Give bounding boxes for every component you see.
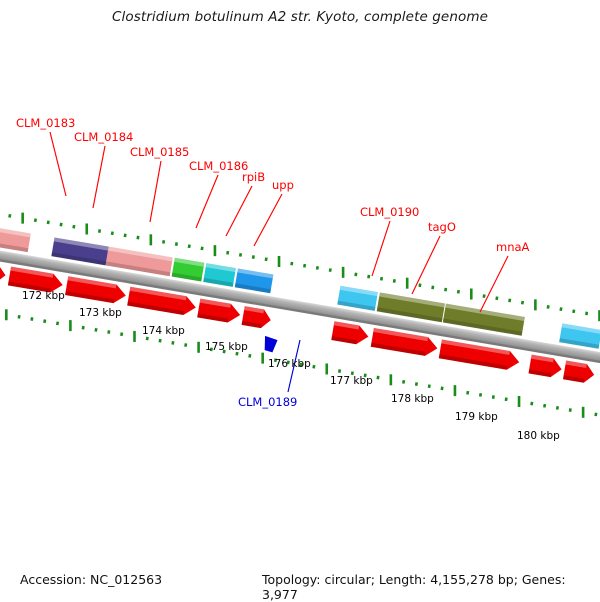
leader-line-CLM_0190	[372, 221, 390, 276]
ruler-major-tick	[342, 267, 345, 278]
ruler-major-tick	[278, 256, 281, 267]
ruler-minor-tick	[559, 307, 562, 311]
ruler-minor-tick	[188, 244, 191, 248]
ruler-minor-tick	[107, 330, 110, 334]
gene-label-CLM_0186[interactable]: CLM_0186	[189, 159, 248, 173]
gene-CLM_0186[interactable]	[172, 258, 205, 282]
ruler-minor-tick	[124, 234, 127, 238]
ruler-major-tick	[214, 245, 217, 256]
genome-map-canvas	[0, 0, 600, 600]
ruler-minor-tick	[175, 242, 178, 246]
ruler-minor-tick	[329, 268, 332, 272]
ruler-minor-tick	[415, 382, 418, 386]
gene-arrow-6[interactable]	[242, 306, 273, 329]
ruler-minor-tick	[56, 321, 59, 325]
ruler-minor-tick	[338, 369, 341, 373]
ruler-minor-tick	[34, 218, 37, 222]
leader-line-tagO	[412, 236, 440, 294]
ruler-minor-tick	[431, 286, 434, 290]
ruler-minor-tick	[162, 240, 165, 244]
ruler-minor-tick	[200, 247, 203, 251]
ruler-minor-tick	[111, 231, 114, 235]
ruler-minor-tick	[146, 337, 149, 341]
leader-line-CLM_0184	[93, 146, 105, 208]
ruler-minor-tick	[18, 315, 21, 319]
ruler-major-tick	[582, 407, 585, 418]
gene-label-mnaA[interactable]: mnaA	[496, 240, 529, 254]
gene-label-CLM_0189[interactable]: CLM_0189	[238, 395, 297, 409]
ruler-minor-tick	[376, 376, 379, 380]
gene-label-tagO[interactable]: tagO	[428, 220, 456, 234]
gene-arrow-7[interactable]	[331, 321, 370, 346]
ruler-major-tick	[21, 213, 24, 224]
ruler-minor-tick	[569, 408, 572, 412]
ruler-major-tick	[325, 363, 328, 374]
ruler-minor-tick	[98, 229, 101, 233]
ruler-major-tick	[390, 374, 393, 385]
ruler-major-tick	[534, 299, 537, 310]
ruler-label-172-kbp: 172 kbp	[22, 290, 65, 302]
ruler-minor-tick	[184, 343, 187, 347]
ruler-minor-tick	[136, 236, 139, 240]
gene-label-rpiB[interactable]: rpiB	[242, 170, 265, 184]
ruler-minor-tick	[30, 317, 33, 321]
ruler-major-tick	[470, 289, 473, 300]
ruler-minor-tick	[418, 283, 421, 287]
gene-upp[interactable]	[235, 268, 274, 293]
ruler-minor-tick	[303, 264, 306, 268]
leader-line-CLM_0186	[196, 175, 218, 228]
ruler-minor-tick	[508, 299, 511, 303]
gene-label-CLM_0190[interactable]: CLM_0190	[360, 205, 419, 219]
ruler-minor-tick	[226, 251, 229, 255]
ruler-major-tick	[85, 223, 88, 234]
ruler-major-tick	[5, 309, 8, 320]
ruler-label-177-kbp: 177 kbp	[330, 375, 373, 387]
leader-line-CLM_0185	[150, 161, 161, 222]
ruler-major-tick	[150, 234, 153, 245]
ruler-minor-tick	[94, 328, 97, 332]
ruler-minor-tick	[43, 319, 46, 323]
ruler-minor-tick	[393, 279, 396, 283]
CLM_0189-marker[interactable]	[263, 336, 278, 353]
ruler-minor-tick	[530, 402, 533, 406]
ruler-minor-tick	[312, 365, 315, 369]
gene-arrow-5[interactable]	[197, 299, 242, 325]
ruler-minor-tick	[572, 309, 575, 313]
ruler-minor-tick	[47, 220, 50, 224]
ruler-major-tick	[454, 385, 457, 396]
gene-rpiB[interactable]	[203, 263, 236, 287]
leader-line-mnaA	[480, 256, 508, 312]
strand-marker-layer	[263, 336, 278, 353]
leader-line-CLM_0183	[50, 132, 66, 196]
ruler-minor-tick	[444, 288, 447, 292]
ruler-label-175-kbp: 175 kbp	[205, 341, 248, 353]
gene-label-CLM_0185[interactable]: CLM_0185	[130, 145, 189, 159]
ruler-minor-tick	[380, 277, 383, 281]
gene-partial-right[interactable]	[559, 323, 600, 348]
ruler-minor-tick	[466, 391, 469, 395]
ruler-major-tick	[197, 342, 200, 353]
gene-arrow-10[interactable]	[528, 355, 563, 379]
ruler-minor-tick	[428, 384, 431, 388]
ruler-label-180-kbp: 180 kbp	[517, 430, 560, 442]
ruler-minor-tick	[252, 255, 255, 259]
leader-line-rpiB	[226, 186, 252, 236]
leader-line-upp	[254, 194, 282, 246]
ruler-minor-tick	[594, 413, 597, 417]
genome-summary-text: Topology: circular; Length: 4,155,278 bp…	[262, 572, 600, 602]
genome-viewer: Clostridium botulinum A2 str. Kyoto, com…	[0, 0, 600, 600]
ruler-minor-tick	[171, 341, 174, 345]
ruler-minor-tick	[402, 380, 405, 384]
gene-CLM_0190[interactable]	[337, 286, 378, 311]
ruler-minor-tick	[159, 339, 162, 343]
ruler-minor-tick	[482, 294, 485, 298]
ruler-major-tick	[406, 278, 409, 289]
ruler-major-tick	[69, 320, 72, 331]
ruler-minor-tick	[521, 301, 524, 305]
ruler-minor-tick	[547, 305, 550, 309]
ruler-minor-tick	[239, 253, 242, 257]
ruler-minor-tick	[367, 275, 370, 279]
ruler-label-178-kbp: 178 kbp	[391, 393, 434, 405]
ruler-minor-tick	[354, 273, 357, 277]
ruler-major-tick	[133, 331, 136, 342]
gene-arrow-1[interactable]	[0, 261, 7, 285]
ruler-minor-tick	[248, 354, 251, 358]
ruler-minor-tick	[505, 397, 508, 401]
gene-label-CLM_0184[interactable]: CLM_0184	[74, 130, 133, 144]
ruler-minor-tick	[120, 332, 123, 336]
ruler-minor-tick	[492, 395, 495, 399]
gene-partial-left[interactable]	[0, 226, 31, 252]
gene-arrow-11[interactable]	[563, 360, 596, 384]
ruler-minor-tick	[543, 404, 546, 408]
ruler-major-tick	[261, 353, 264, 364]
ruler-minor-tick	[8, 214, 11, 218]
ruler-label-174-kbp: 174 kbp	[142, 325, 185, 337]
ruler-minor-tick	[316, 266, 319, 270]
ruler-major-tick	[518, 396, 521, 407]
ruler-minor-tick	[441, 387, 444, 391]
gene-label-upp[interactable]: upp	[272, 178, 294, 192]
ruler-minor-tick	[290, 262, 293, 266]
ruler-minor-tick	[479, 393, 482, 397]
ruler-label-173-kbp: 173 kbp	[79, 307, 122, 319]
ruler-minor-tick	[457, 290, 460, 294]
ruler-minor-tick	[556, 406, 559, 410]
ruler-minor-tick	[265, 257, 268, 261]
ruler-label-179-kbp: 179 kbp	[455, 411, 498, 423]
gene-label-CLM_0183[interactable]: CLM_0183	[16, 116, 75, 130]
ruler-minor-tick	[59, 223, 62, 227]
ruler-minor-tick	[585, 312, 588, 316]
accession-text: Accession: NC_012563	[20, 572, 162, 587]
ruler-minor-tick	[82, 326, 85, 330]
ruler-minor-tick	[72, 225, 75, 229]
ruler-label-176-kbp: 176 kbp	[268, 358, 311, 370]
ruler-minor-tick	[495, 296, 498, 300]
